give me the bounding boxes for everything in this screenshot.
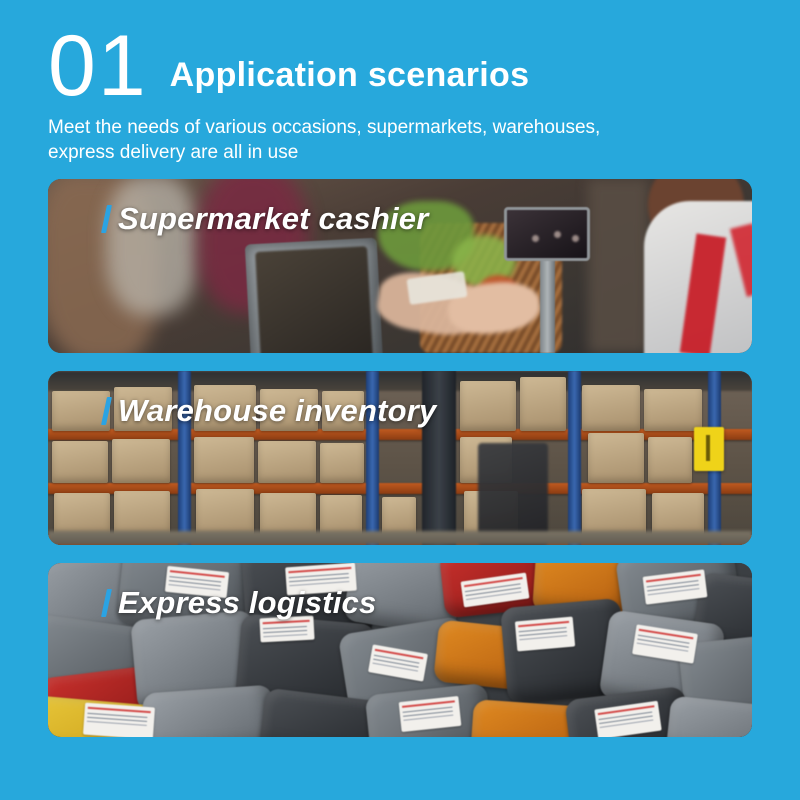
card-label-text: Supermarket cashier <box>118 201 429 237</box>
customer-display-icon <box>504 207 590 261</box>
scenario-card-list: Supermarket cashier <box>0 165 800 737</box>
title-row: 01 Application scenarios <box>48 22 752 106</box>
page-subtitle: Meet the needs of various occasions, sup… <box>48 115 648 165</box>
card-label-warehouse-inventory: Warehouse inventory <box>104 393 436 429</box>
section-number: 01 <box>48 27 148 106</box>
card-label-express-logistics: Express logistics <box>104 585 376 621</box>
page-title: Application scenarios <box>170 56 530 106</box>
scenario-card-warehouse-inventory[interactable]: Warehouse inventory <box>48 371 752 545</box>
shipping-label <box>83 703 155 737</box>
card-label-supermarket-cashier: Supermarket cashier <box>104 201 429 237</box>
rack-label-tag <box>694 427 724 471</box>
shipping-label <box>515 617 575 652</box>
card-label-text: Express logistics <box>118 585 376 621</box>
scenario-card-express-logistics[interactable]: Express logistics <box>48 563 752 737</box>
scenario-card-supermarket-cashier[interactable]: Supermarket cashier <box>48 179 752 353</box>
forklift-shape <box>478 443 548 545</box>
page-header: 01 Application scenarios Meet the needs … <box>0 0 800 165</box>
card-label-text: Warehouse inventory <box>118 393 436 429</box>
